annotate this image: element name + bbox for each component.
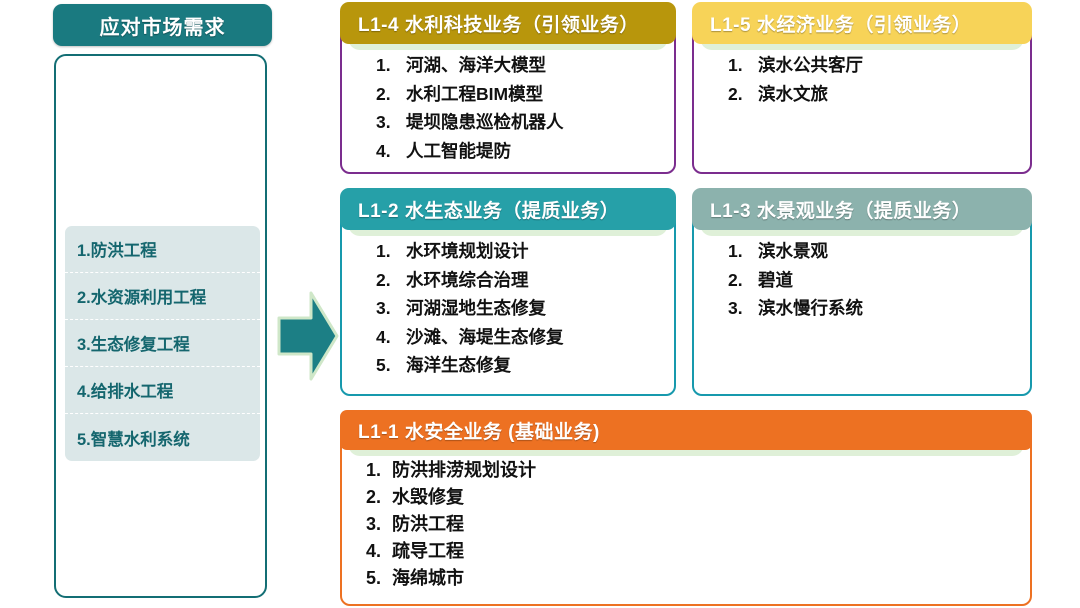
- business-card-l1-1: 1. 防洪排涝规划设计 2. 水毁修复 3. 防洪工程 4. 疏导工程 5. 海…: [340, 410, 1032, 606]
- list-item[interactable]: 5. 海洋生态修复: [376, 357, 674, 375]
- list-item[interactable]: 3.生态修复工程: [65, 320, 260, 367]
- card-title-label: L1-5 水经济业务（引领业务）: [710, 10, 971, 37]
- item-label: 防洪排涝规划设计: [392, 461, 1030, 479]
- card-title-label: L1-4 水利科技业务（引领业务）: [358, 10, 639, 37]
- item-number: 3.: [728, 300, 758, 318]
- market-demand-column: 应对市场需求 1.防洪工程 2.水资源利用工程 3.生态修复工程 4.给排水工程…: [53, 4, 272, 600]
- item-number: 3.: [376, 114, 406, 132]
- market-demand-title-card: 应对市场需求: [53, 4, 272, 46]
- item-label: 水环境综合治理: [406, 272, 674, 290]
- business-card-l1-5: 1. 滨水公共客厅 2. 滨水文旅 L1-5 水经济业务（引领业务）: [692, 2, 1032, 174]
- demand-item-label: 3.生态修复工程: [77, 331, 190, 355]
- list-item[interactable]: 1. 滨水景观: [728, 243, 1030, 261]
- item-label: 海绵城市: [392, 569, 1030, 587]
- list-item[interactable]: 2. 水利工程BIM模型: [376, 86, 674, 104]
- list-item[interactable]: 3. 河湖湿地生态修复: [376, 300, 674, 318]
- demand-item-label: 1.防洪工程: [77, 237, 157, 261]
- item-label: 滨水慢行系统: [758, 300, 1030, 318]
- item-number: 1.: [366, 461, 392, 479]
- item-number: 4.: [376, 143, 406, 161]
- list-item[interactable]: 2. 水毁修复: [366, 488, 1030, 506]
- list-item[interactable]: 1. 防洪排涝规划设计: [366, 461, 1030, 479]
- item-number: 4.: [376, 329, 406, 347]
- card-header-l1-4: L1-4 水利科技业务（引领业务）: [340, 2, 676, 44]
- card-item-list: 1. 滨水公共客厅 2. 滨水文旅: [694, 57, 1030, 103]
- list-item[interactable]: 5.智慧水利系统: [65, 414, 260, 461]
- item-number: 1.: [376, 57, 406, 75]
- demand-item-label: 2.水资源利用工程: [77, 284, 206, 308]
- list-item[interactable]: 3. 滨水慢行系统: [728, 300, 1030, 318]
- item-label: 人工智能堤防: [406, 143, 674, 161]
- card-item-list: 1. 滨水景观 2. 碧道 3. 滨水慢行系统: [694, 243, 1030, 318]
- item-label: 河湖、海洋大模型: [406, 57, 674, 75]
- arrow-right-icon: [277, 288, 339, 384]
- item-label: 水利工程BIM模型: [406, 86, 674, 104]
- item-number: 2.: [366, 488, 392, 506]
- market-demand-panel: 1.防洪工程 2.水资源利用工程 3.生态修复工程 4.给排水工程 5.智慧水利…: [54, 54, 267, 598]
- item-number: 4.: [366, 542, 392, 560]
- demand-item-label: 4.给排水工程: [77, 378, 173, 402]
- item-label: 河湖湿地生态修复: [406, 300, 674, 318]
- item-label: 堤坝隐患巡检机器人: [406, 114, 674, 132]
- card-item-list: 1. 河湖、海洋大模型 2. 水利工程BIM模型 3. 堤坝隐患巡检机器人 4.…: [342, 57, 674, 160]
- card-body: 1. 防洪排涝规划设计 2. 水毁修复 3. 防洪工程 4. 疏导工程 5. 海…: [340, 431, 1032, 606]
- list-item[interactable]: 4. 疏导工程: [366, 542, 1030, 560]
- card-header-l1-2: L1-2 水生态业务（提质业务）: [340, 188, 676, 230]
- item-label: 防洪工程: [392, 515, 1030, 533]
- market-demand-title-label: 应对市场需求: [100, 11, 226, 40]
- list-item[interactable]: 2. 水环境综合治理: [376, 272, 674, 290]
- item-number: 3.: [376, 300, 406, 318]
- list-item[interactable]: 1.防洪工程: [65, 226, 260, 273]
- card-body: 1. 水环境规划设计 2. 水环境综合治理 3. 河湖湿地生态修复 4. 沙滩、…: [340, 209, 676, 396]
- list-item[interactable]: 1. 水环境规划设计: [376, 243, 674, 261]
- item-label: 海洋生态修复: [406, 357, 674, 375]
- item-number: 2.: [728, 86, 758, 104]
- list-item[interactable]: 4.给排水工程: [65, 367, 260, 414]
- item-label: 滨水景观: [758, 243, 1030, 261]
- list-item[interactable]: 1. 滨水公共客厅: [728, 57, 1030, 75]
- card-title-label: L1-3 水景观业务（提质业务）: [710, 196, 971, 223]
- card-header-l1-3: L1-3 水景观业务（提质业务）: [692, 188, 1032, 230]
- market-demand-list: 1.防洪工程 2.水资源利用工程 3.生态修复工程 4.给排水工程 5.智慧水利…: [65, 226, 260, 461]
- list-item[interactable]: 5. 海绵城市: [366, 569, 1030, 587]
- item-label: 水毁修复: [392, 488, 1030, 506]
- item-number: 2.: [376, 272, 406, 290]
- card-title-label: L1-2 水生态业务（提质业务）: [358, 196, 619, 223]
- item-label: 水环境规划设计: [406, 243, 674, 261]
- item-label: 碧道: [758, 272, 1030, 290]
- card-title-label: L1-1 水安全业务 (基础业务): [358, 417, 600, 444]
- item-label: 滨水公共客厅: [758, 57, 1030, 75]
- item-number: 2.: [728, 272, 758, 290]
- list-item[interactable]: 1. 河湖、海洋大模型: [376, 57, 674, 75]
- demand-item-label: 5.智慧水利系统: [77, 426, 190, 450]
- item-number: 3.: [366, 515, 392, 533]
- list-item[interactable]: 4. 沙滩、海堤生态修复: [376, 329, 674, 347]
- business-card-l1-4: 1. 河湖、海洋大模型 2. 水利工程BIM模型 3. 堤坝隐患巡检机器人 4.…: [340, 2, 676, 174]
- list-item[interactable]: 3. 堤坝隐患巡检机器人: [376, 114, 674, 132]
- card-header-l1-1: L1-1 水安全业务 (基础业务): [340, 410, 1032, 450]
- item-label: 滨水文旅: [758, 86, 1030, 104]
- list-item[interactable]: 4. 人工智能堤防: [376, 143, 674, 161]
- card-header-l1-5: L1-5 水经济业务（引领业务）: [692, 2, 1032, 44]
- item-number: 5.: [376, 357, 406, 375]
- item-number: 1.: [728, 243, 758, 261]
- list-item[interactable]: 2.水资源利用工程: [65, 273, 260, 320]
- item-number: 5.: [366, 569, 392, 587]
- list-item[interactable]: 2. 滨水文旅: [728, 86, 1030, 104]
- item-label: 沙滩、海堤生态修复: [406, 329, 674, 347]
- item-number: 1.: [376, 243, 406, 261]
- list-item[interactable]: 2. 碧道: [728, 272, 1030, 290]
- item-label: 疏导工程: [392, 542, 1030, 560]
- business-card-l1-2: 1. 水环境规划设计 2. 水环境综合治理 3. 河湖湿地生态修复 4. 沙滩、…: [340, 188, 676, 396]
- list-item[interactable]: 3. 防洪工程: [366, 515, 1030, 533]
- card-item-list: 1. 防洪排涝规划设计 2. 水毁修复 3. 防洪工程 4. 疏导工程 5. 海…: [342, 461, 1030, 587]
- card-item-list: 1. 水环境规划设计 2. 水环境综合治理 3. 河湖湿地生态修复 4. 沙滩、…: [342, 243, 674, 375]
- business-card-l1-3: 1. 滨水景观 2. 碧道 3. 滨水慢行系统 L1-3 水景观业务（提质业务）: [692, 188, 1032, 396]
- card-body: 1. 滨水景观 2. 碧道 3. 滨水慢行系统: [692, 209, 1032, 396]
- item-number: 1.: [728, 57, 758, 75]
- item-number: 2.: [376, 86, 406, 104]
